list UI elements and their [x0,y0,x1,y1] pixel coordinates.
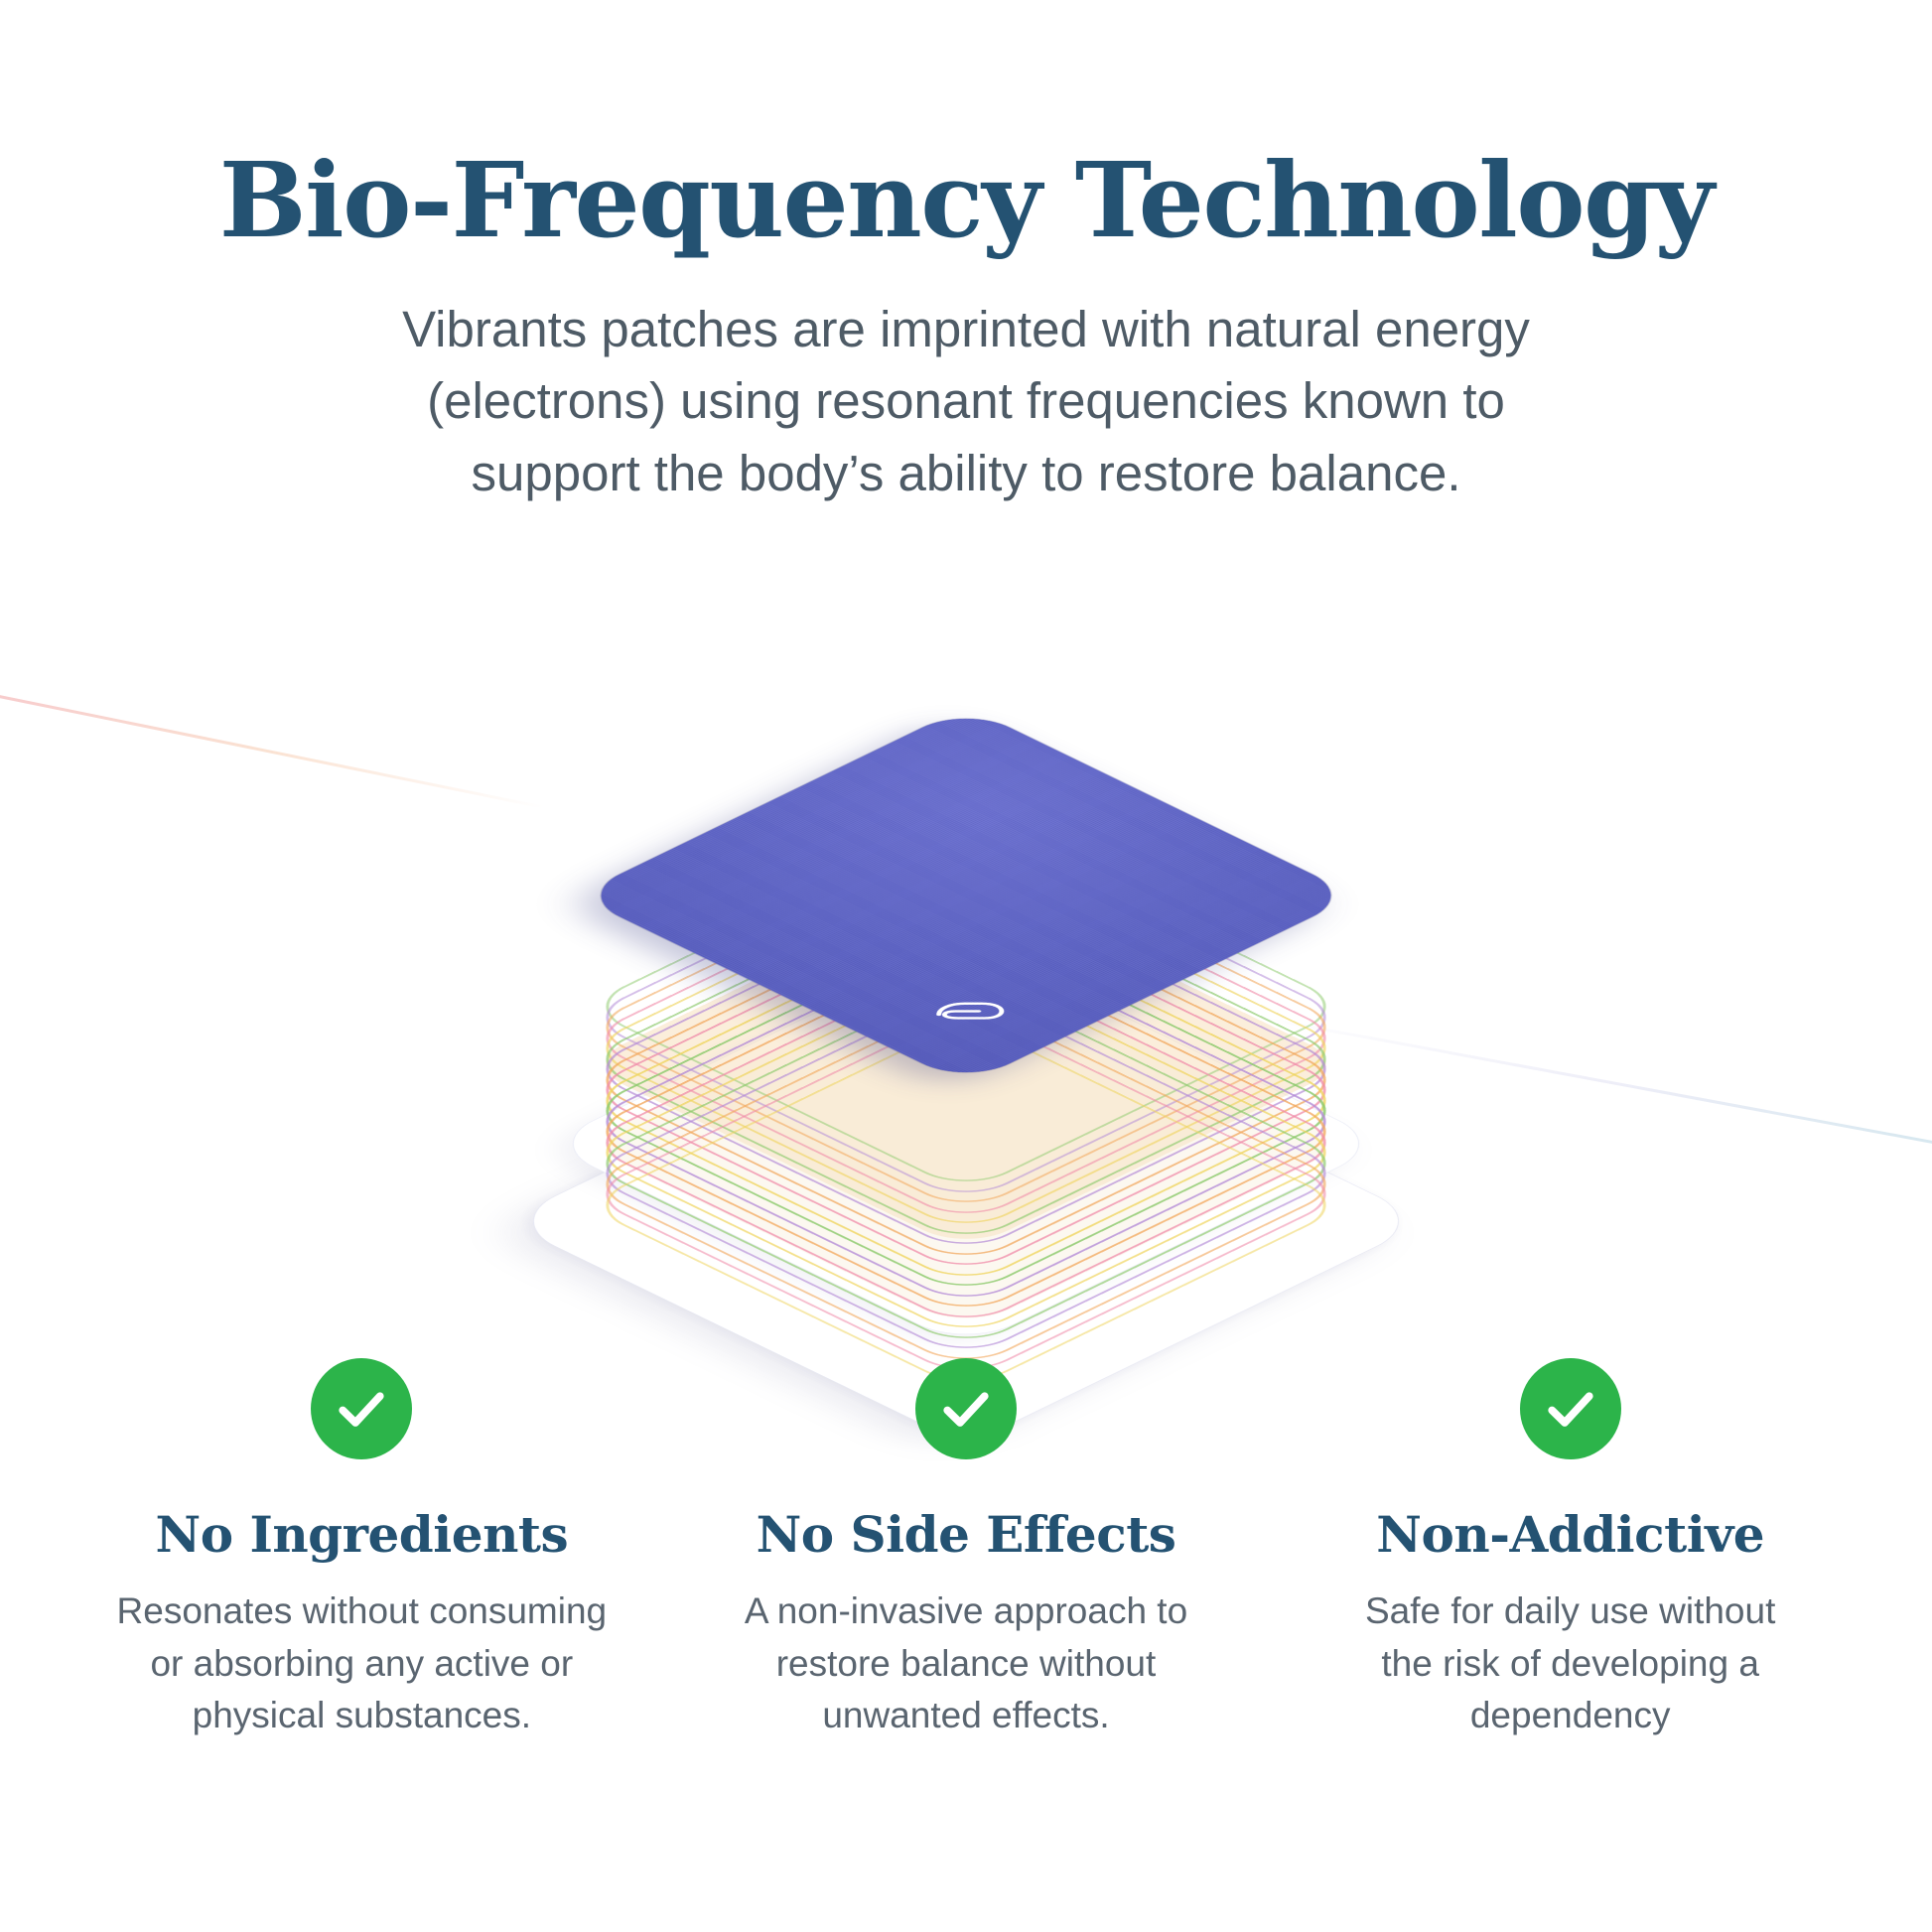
benefit-desc-0-line-2: or absorbing any active or [78,1638,644,1691]
benefit-desc-1-line-2: restore balance without [683,1638,1249,1691]
benefit-column-no-side-effects: No Side Effects A non-invasive approach … [664,1358,1269,1742]
benefit-desc-2-line-2: the risk of developing a [1288,1638,1854,1691]
check-circle-icon [311,1358,412,1459]
patch-layer-stack [420,596,1512,1330]
benefit-desc-2-line-3: dependency [1288,1690,1854,1742]
benefit-icon-wrap-0 [71,1358,652,1459]
benefits-row: No Ingredients Resonates without consumi… [0,1358,1932,1742]
benefit-column-non-addictive: Non-Addictive Safe for daily use without… [1268,1358,1872,1742]
vibrants-leaf-logo-icon [924,991,1016,1035]
header: Bio-Frequency Technology Vibrants patche… [0,0,1932,509]
benefit-icon-wrap-2 [1280,1358,1861,1459]
benefit-desc-1-line-3: unwanted effects. [683,1690,1249,1742]
hero-product-graphic [0,596,1932,1330]
benefit-title-1: No Side Effects [676,1507,1257,1562]
check-circle-icon [915,1358,1017,1459]
subtitle-line-2: (electrons) using resonant frequencies k… [172,365,1760,437]
benefit-desc-0: Resonates without consuming or absorbing… [78,1586,644,1742]
benefit-column-no-ingredients: No Ingredients Resonates without consumi… [60,1358,664,1742]
page-title: Bio-Frequency Technology [0,149,1932,252]
benefit-desc-2: Safe for daily use without the risk of d… [1288,1586,1854,1742]
benefit-title-2: Non-Addictive [1280,1507,1861,1562]
benefit-desc-1-line-1: A non-invasive approach to [683,1586,1249,1638]
benefit-title-0: No Ingredients [71,1507,652,1562]
benefit-desc-0-line-3: physical substances. [78,1690,644,1742]
subtitle-line-3: support the body’s ability to restore ba… [172,438,1760,509]
benefit-icon-wrap-1 [676,1358,1257,1459]
benefit-desc-2-line-1: Safe for daily use without [1288,1586,1854,1638]
check-circle-icon [1520,1358,1621,1459]
infographic-page: Bio-Frequency Technology Vibrants patche… [0,0,1932,1932]
benefit-desc-1: A non-invasive approach to restore balan… [683,1586,1249,1742]
page-subtitle: Vibrants patches are imprinted with natu… [172,294,1760,509]
subtitle-line-1: Vibrants patches are imprinted with natu… [172,294,1760,365]
benefit-desc-0-line-1: Resonates without consuming [78,1586,644,1638]
